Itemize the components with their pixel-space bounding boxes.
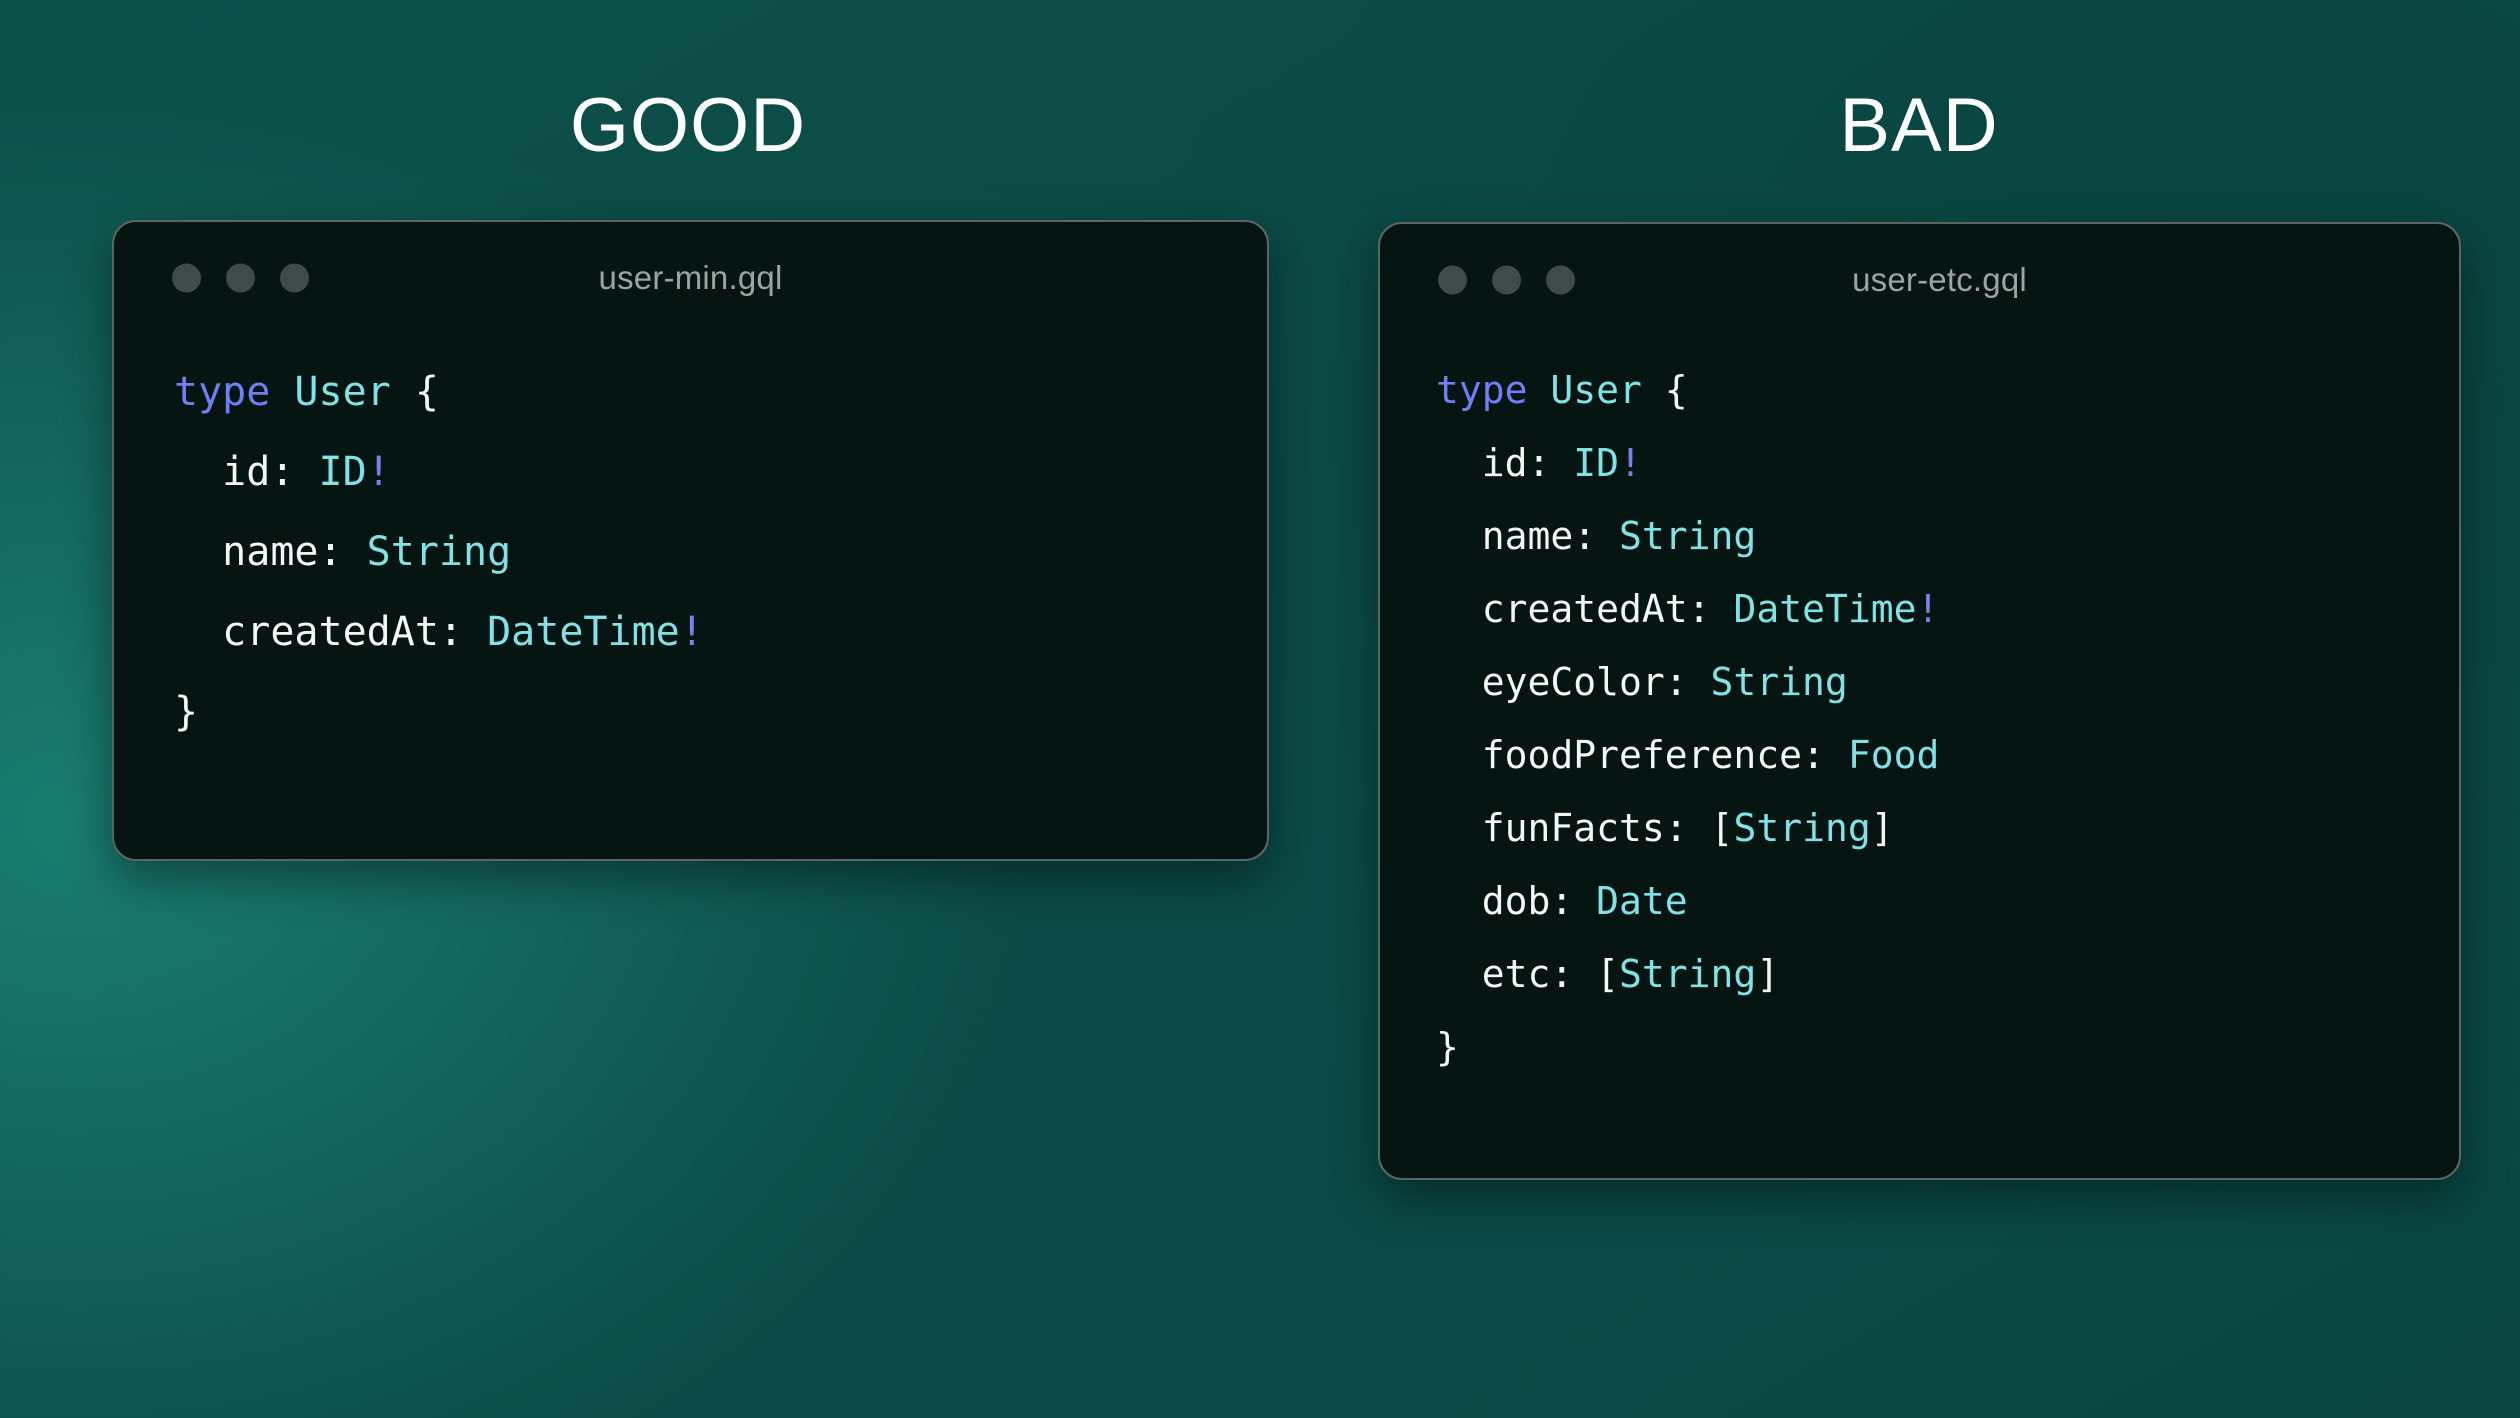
filename-label: user-min.gql <box>114 259 1267 297</box>
code-token-bang: ! <box>680 609 704 655</box>
code-token-punct: { <box>391 369 439 415</box>
code-token-kw: type <box>1436 368 1528 412</box>
code-token-plain: name <box>174 529 319 575</box>
comparison-slide: GOOD BAD user-min.gql type User { id: ID… <box>0 0 2520 1418</box>
code-token-kw: type <box>174 369 270 415</box>
code-token-plain: id <box>174 449 270 495</box>
code-line: etc: [String] <box>1436 938 2459 1011</box>
code-token-punct: ] <box>1871 806 1894 850</box>
code-token-type: User <box>1550 368 1642 412</box>
code-token-plain <box>1528 368 1551 412</box>
code-line: dob: Date <box>1436 865 2459 938</box>
code-line: id: ID! <box>1436 427 2459 500</box>
code-line: name: String <box>174 512 1267 592</box>
code-token-bang: ! <box>1916 587 1939 631</box>
code-token-punct: : <box>1802 733 1848 777</box>
code-token-bang: ! <box>367 449 391 495</box>
good-column-heading: GOOD <box>570 88 806 164</box>
code-token-plain: foodPreference <box>1436 733 1802 777</box>
code-token-type: Food <box>1848 733 1940 777</box>
code-token-plain: funFacts <box>1436 806 1665 850</box>
code-token-type: Date <box>1596 879 1688 923</box>
code-token-punct: : <box>1688 587 1734 631</box>
code-line: name: String <box>1436 500 2459 573</box>
code-token-plain: eyeColor <box>1436 660 1665 704</box>
code-token-bang: ! <box>1619 441 1642 485</box>
code-token-punct: ] <box>1756 952 1779 996</box>
code-token-plain: createdAt <box>1436 587 1688 631</box>
code-line: foodPreference: Food <box>1436 719 2459 792</box>
code-line: type User { <box>1436 354 2459 427</box>
code-token-plain: dob <box>1436 879 1550 923</box>
code-token-type: User <box>294 369 390 415</box>
code-block: type User { id: ID! name: String created… <box>114 334 1267 752</box>
code-token-type: String <box>367 529 512 575</box>
code-token-type: String <box>1733 806 1870 850</box>
code-line: type User { <box>174 352 1267 432</box>
code-token-type: ID <box>1573 441 1619 485</box>
code-line: } <box>1436 1011 2459 1084</box>
code-token-plain: id <box>1436 441 1528 485</box>
code-token-plain: etc <box>1436 952 1550 996</box>
window-titlebar: user-etc.gql <box>1380 224 2459 336</box>
code-token-punct: : <box>1665 806 1711 850</box>
code-token-punct: { <box>1642 368 1688 412</box>
code-token-punct: : <box>1550 879 1596 923</box>
code-line: createdAt: DateTime! <box>1436 573 2459 646</box>
code-line: createdAt: DateTime! <box>174 592 1267 672</box>
code-block: type User { id: ID! name: String created… <box>1380 336 2459 1084</box>
code-token-plain <box>270 369 294 415</box>
code-token-plain: createdAt <box>174 609 439 655</box>
code-line: eyeColor: String <box>1436 646 2459 719</box>
code-card-good: user-min.gql type User { id: ID! name: S… <box>112 220 1269 861</box>
code-token-punct: } <box>1436 1025 1459 1069</box>
code-token-plain: name <box>1436 514 1573 558</box>
code-token-punct: : <box>1550 952 1596 996</box>
code-token-punct: : <box>1665 660 1711 704</box>
code-token-type: String <box>1619 514 1756 558</box>
code-line: } <box>174 672 1267 752</box>
code-token-type: DateTime <box>487 609 680 655</box>
code-token-type: ID <box>319 449 367 495</box>
filename-label: user-etc.gql <box>1420 261 2459 299</box>
code-token-punct: [ <box>1596 952 1619 996</box>
code-line: funFacts: [String] <box>1436 792 2459 865</box>
code-token-punct: : <box>1573 514 1619 558</box>
code-token-punct: : <box>439 609 487 655</box>
code-token-punct: [ <box>1711 806 1734 850</box>
code-token-punct: } <box>174 689 198 735</box>
code-token-type: String <box>1619 952 1756 996</box>
code-token-type: String <box>1711 660 1848 704</box>
code-line: id: ID! <box>174 432 1267 512</box>
code-token-punct: : <box>270 449 318 495</box>
code-token-punct: : <box>319 529 367 575</box>
code-token-type: DateTime <box>1733 587 1916 631</box>
code-token-punct: : <box>1528 441 1574 485</box>
code-card-bad: user-etc.gql type User { id: ID! name: S… <box>1378 222 2461 1180</box>
bad-column-heading: BAD <box>1839 88 1998 164</box>
window-titlebar: user-min.gql <box>114 222 1267 334</box>
